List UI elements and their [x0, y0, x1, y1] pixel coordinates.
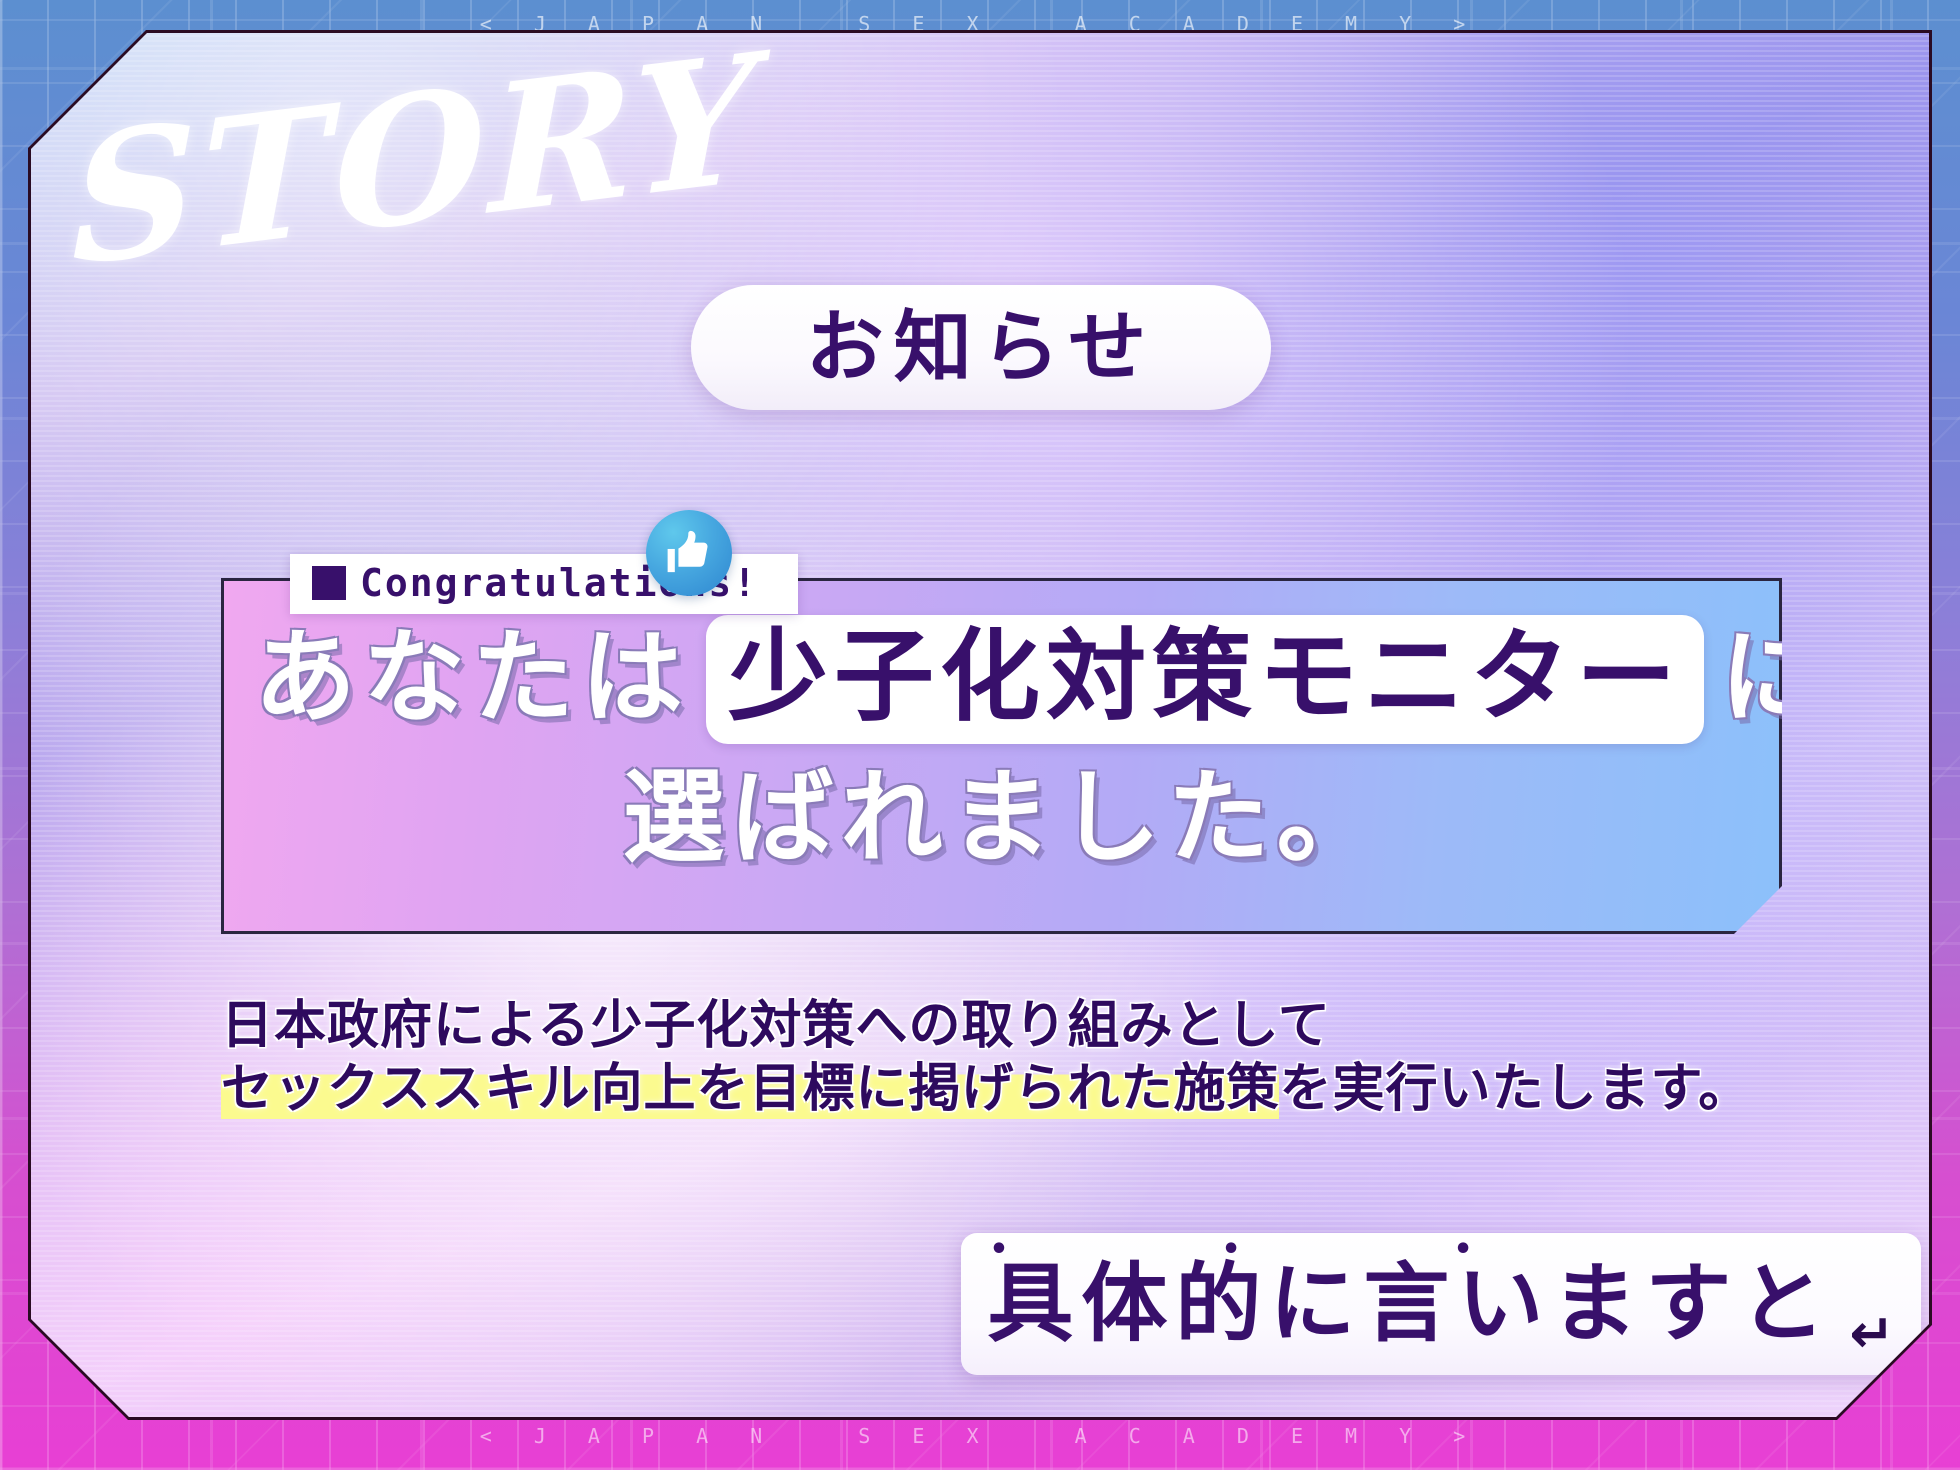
body-line-2-highlight: セックススキル向上を目標に掲げられた施策	[221, 1059, 1279, 1119]
main-panel-border: STORY お知らせ あなたは 少子化対策モニター に 選ばれました。	[28, 30, 1932, 1420]
announcement-highlight-label: 少子化対策モニター	[728, 619, 1682, 734]
announcement-line-2-text: 選ばれました。	[623, 763, 1386, 875]
body-line-2: セックススキル向上を目標に掲げられた施策を実行いたします。	[221, 1058, 1721, 1121]
main-panel: STORY お知らせ あなたは 少子化対策モニター に 選ばれました。	[31, 33, 1929, 1417]
body-line-1: 日本政府による少子化対策への取り組みとして	[221, 995, 1721, 1058]
thumbs-up-icon	[646, 510, 732, 596]
announcement-line-1: あなたは 少子化対策モニター に	[254, 609, 1754, 749]
return-arrow-icon: ↵	[1849, 1302, 1894, 1375]
notice-pill-label: お知らせ	[806, 309, 1156, 387]
body-paragraph: 日本政府による少子化対策への取り組みとして セックススキル向上を目標に掲げられた…	[221, 995, 1721, 1122]
announcement-line-2: 選ばれました。	[254, 749, 1754, 889]
notice-pill: お知らせ	[691, 285, 1271, 410]
announcement-highlight-box: 少子化対策モニター	[706, 615, 1704, 744]
body-line-2-rest: を実行いたします。	[1279, 1059, 1751, 1119]
announcement-box: あなたは 少子化対策モニター に 選ばれました。	[221, 578, 1782, 934]
square-bullet-icon	[312, 566, 346, 600]
emphasis-dots-icon: • • •	[989, 1235, 1536, 1265]
speech-label-text: 具体的に言いますと	[987, 1254, 1833, 1354]
speech-box: • • • 具体的に言いますと ↵	[961, 1233, 1921, 1375]
speech-label: • • • 具体的に言いますと	[987, 1261, 1833, 1347]
page-title: STORY	[72, 33, 761, 291]
announcement-suffix: に	[1720, 623, 1829, 735]
screenshot-stage: < J A P A N S E X A C A D E M Y > < J A …	[0, 0, 1960, 1470]
announcement-prefix: あなたは	[254, 623, 690, 735]
